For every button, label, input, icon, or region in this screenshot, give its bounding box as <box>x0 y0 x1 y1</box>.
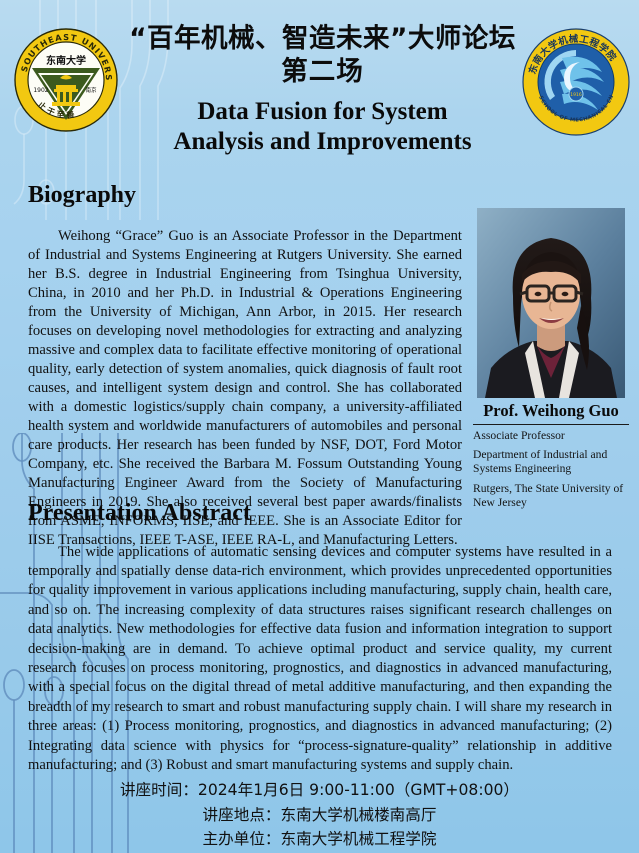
poster-header: 东南大学 1902 南京 SOUTHEAST UNIVERSITY 止于至善 <box>0 0 639 176</box>
lecture-organizer: 主办单位：东南大学机械工程学院 <box>0 827 639 852</box>
speaker-title: Associate Professor <box>473 429 629 443</box>
southeast-university-logo-icon: 东南大学 1902 南京 SOUTHEAST UNIVERSITY 止于至善 <box>14 28 118 132</box>
forum-title-cn-line2: 第二场 <box>112 55 533 88</box>
biography-heading: Biography <box>28 182 136 208</box>
abstract-heading: Presentation Abstract <box>28 500 251 526</box>
svg-text:南京: 南京 <box>85 86 97 94</box>
biography-section: Biography <box>0 182 136 211</box>
abstract-body: The wide applications of automatic sensi… <box>28 528 612 790</box>
svg-text:1916: 1916 <box>570 92 582 98</box>
speaker-affiliation: Associate Professor Department of Indust… <box>473 429 629 510</box>
school-of-mechanical-engineering-logo-icon: 1916 东南大学机械工程学院 SCHOOL OF MECHANICAL ENG… <box>522 28 630 136</box>
speaker-photo <box>477 208 625 398</box>
speaker-divider <box>473 424 629 425</box>
speaker-institution: Rutgers, The State University of New Jer… <box>473 482 629 510</box>
poster-footer: 讲座时间：2024年1月6日 9:00-11:00（GMT+08:00） 讲座地… <box>0 778 639 852</box>
poster-title-block: “百年机械、智造未来”大师论坛 第二场 Data Fusion for Syst… <box>112 22 533 157</box>
svg-text:1902: 1902 <box>33 87 48 94</box>
talk-title-line2: Analysis and Improvements <box>112 127 533 157</box>
lecture-time: 讲座时间：2024年1月6日 9:00-11:00（GMT+08:00） <box>0 778 639 803</box>
lecture-venue: 讲座地点：东南大学机械楼南高厅 <box>0 803 639 828</box>
abstract-paragraph: The wide applications of automatic sensi… <box>28 543 612 776</box>
abstract-section: Presentation Abstract <box>0 500 251 529</box>
speaker-card: Prof. Weihong Guo Associate Professor De… <box>473 208 629 515</box>
forum-title-cn-line1: “百年机械、智造未来”大师论坛 <box>112 22 533 55</box>
svg-text:东南大学: 东南大学 <box>46 54 86 67</box>
speaker-name: Prof. Weihong Guo <box>473 398 629 421</box>
talk-title-line1: Data Fusion for System <box>112 97 533 127</box>
seminar-poster: 东南大学 1902 南京 SOUTHEAST UNIVERSITY 止于至善 <box>0 0 639 853</box>
speaker-department: Department of Industrial and Systems Eng… <box>473 448 629 476</box>
